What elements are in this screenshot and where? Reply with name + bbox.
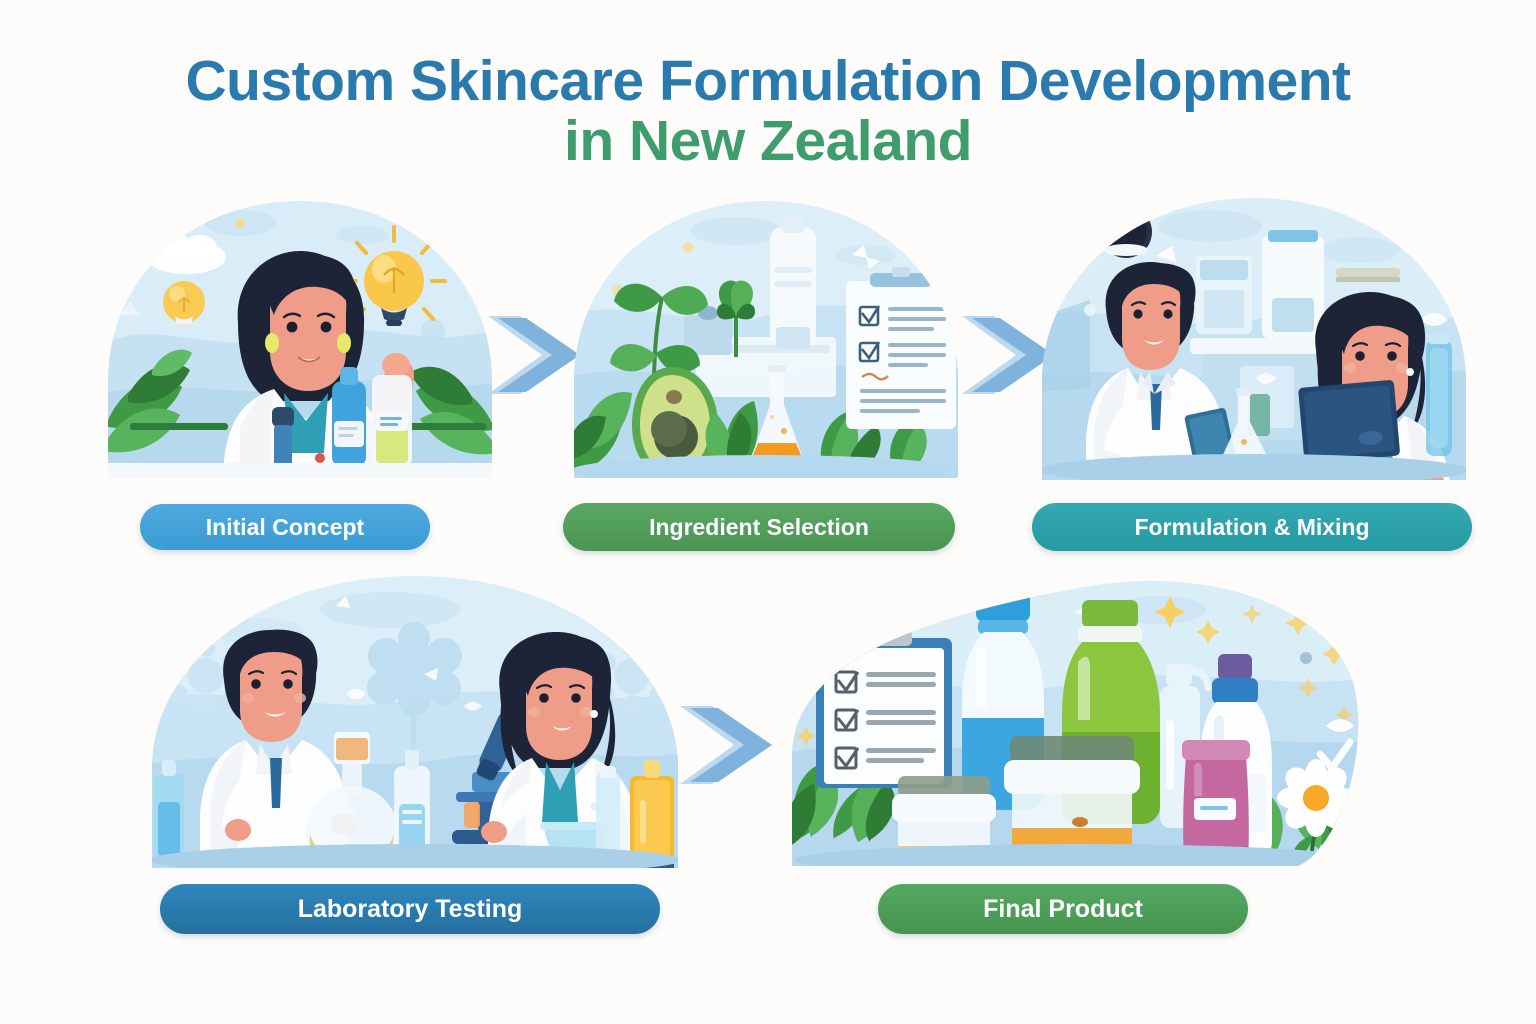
page-title: Custom Skincare Formulation Development … [0, 52, 1536, 172]
step-label-pill-5[interactable]: Final Product [878, 884, 1248, 934]
title-line-2: in New Zealand [0, 112, 1536, 172]
scene-final-product [778, 548, 1388, 880]
scene-initial-concept [100, 195, 500, 490]
step-panel-2 [566, 195, 966, 490]
step-label-pill-4[interactable]: Laboratory Testing [160, 884, 660, 934]
step-label-pill-1[interactable]: Initial Concept [140, 504, 430, 550]
step-label-2: Ingredient Selection [649, 514, 869, 541]
step-label-pill-2[interactable]: Ingredient Selection [563, 503, 955, 551]
scene-formulation-mixing [1030, 192, 1478, 492]
step-label-5: Final Product [983, 895, 1143, 924]
step-panel-3 [1030, 192, 1478, 492]
infographic-canvas: Custom Skincare Formulation Development … [0, 0, 1536, 1024]
step-label-3: Formulation & Mixing [1134, 514, 1369, 541]
scene-laboratory-testing [140, 570, 690, 880]
step-panel-4 [140, 570, 690, 880]
step-label-1: Initial Concept [206, 514, 364, 541]
step-panel-1 [100, 195, 500, 490]
scene-ingredient-selection [566, 195, 966, 490]
step-label-pill-3[interactable]: Formulation & Mixing [1032, 503, 1472, 551]
title-line-1: Custom Skincare Formulation Development [0, 52, 1536, 112]
step-label-4: Laboratory Testing [298, 895, 523, 924]
step-panel-5 [778, 548, 1388, 880]
